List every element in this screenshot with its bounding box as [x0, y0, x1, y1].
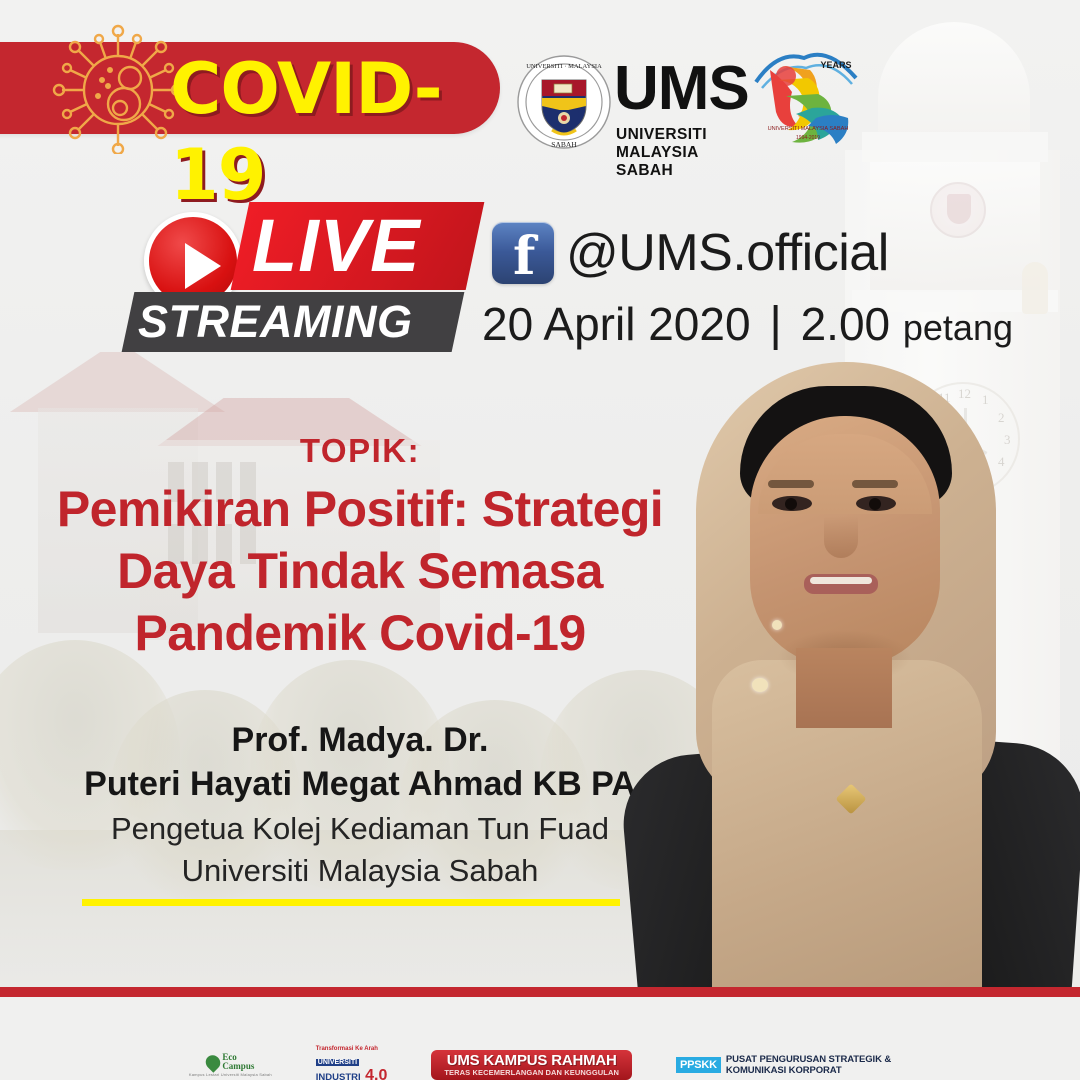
ums-subtitle: UNIVERSITI MALAYSIA SABAH — [616, 126, 707, 180]
industry40-line-1: Transformasi Ke Arah — [316, 1046, 388, 1052]
ecocampus-logo: Eco Campus Kampus Lestari Universiti Mal… — [189, 1053, 272, 1077]
footer-divider — [0, 987, 1080, 997]
tower-crest-icon — [930, 182, 986, 238]
svg-text:1994-2019: 1994-2019 — [796, 135, 820, 141]
hijab-pin-icon — [772, 620, 782, 630]
hijab-brooch-icon — [752, 678, 768, 692]
yellow-divider — [82, 899, 620, 906]
nose — [824, 516, 858, 558]
facebook-f-glyph: f — [513, 230, 535, 284]
live-label: LIVE — [252, 200, 492, 292]
ecocampus-name-2: Campus — [222, 1061, 254, 1071]
ppskk-line-2: KOMUNIKASI KORPORAT — [726, 1065, 842, 1076]
mouth — [804, 574, 878, 594]
play-triangle-icon — [185, 243, 221, 289]
streaming-label: STREAMING — [138, 292, 478, 352]
kampus-rahmah-logo: UMS KAMPUS RAHMAH TERAS KECEMERLANGAN DA… — [431, 1050, 632, 1080]
facebook-handle[interactable]: @UMS.official — [566, 222, 889, 284]
eyebrow-right — [852, 480, 898, 488]
clock-tower-finial — [1022, 262, 1048, 314]
kampus-rahmah-subtitle: TERAS KECEMERLANGAN DAN KEUNGGULAN — [444, 1068, 619, 1077]
covid-banner-label: COVID-19 — [170, 46, 510, 132]
ums-wordmark: UMS — [614, 58, 749, 120]
industry40-line-2: UNIVERSITI — [316, 1059, 359, 1066]
partner-logos-row: Eco Campus Kampus Lestari Universiti Mal… — [0, 1050, 1080, 1080]
ppskk-line-1: PUSAT PENGURUSAN STRATEGIK & — [726, 1054, 891, 1065]
ppskk-badge: PPSKK — [676, 1057, 721, 1073]
kampus-rahmah-title: UMS KAMPUS RAHMAH — [444, 1053, 619, 1068]
ecocampus-subtitle: Kampus Lestari Universiti Malaysia Sabah — [189, 1072, 272, 1077]
coronavirus-icon — [52, 22, 184, 154]
industry40-line-3: INDUSTRI — [316, 1073, 361, 1080]
svg-text:YEARS: YEARS — [820, 60, 851, 70]
poster-canvas: 12 11 10 1 2 3 4 — [0, 0, 1080, 1080]
clock-tower-cap — [862, 132, 1048, 162]
svg-text:UNIVERSITI · MALAYSIA: UNIVERSITI · MALAYSIA — [526, 63, 602, 70]
industry40-line-4: 4.0 — [365, 1067, 387, 1080]
ppskk-logo: PPSKK PUSAT PENGURUSAN STRATEGIK & KOMUN… — [676, 1054, 891, 1076]
facebook-icon[interactable]: f — [492, 222, 554, 284]
neck — [796, 648, 892, 728]
leaf-icon — [203, 1052, 224, 1073]
eyebrow-left — [768, 480, 814, 488]
speaker-portrait — [600, 330, 1080, 988]
eye-right — [856, 496, 896, 511]
industry40-logo: Transformasi Ke Arah UNIVERSITI INDUSTRI… — [316, 1046, 388, 1080]
ums-crest-icon: UNIVERSITI · MALAYSIA SABAH — [516, 54, 612, 150]
svg-text:UNIVERSITI MALAYSIA SABAH: UNIVERSITI MALAYSIA SABAH — [768, 126, 849, 132]
eye-left — [772, 496, 812, 511]
svg-text:SABAH: SABAH — [551, 140, 577, 149]
ums-25-years-logo: YEARS UNIVERSITI MALAYSIA SABAH 1994-201… — [752, 44, 862, 148]
